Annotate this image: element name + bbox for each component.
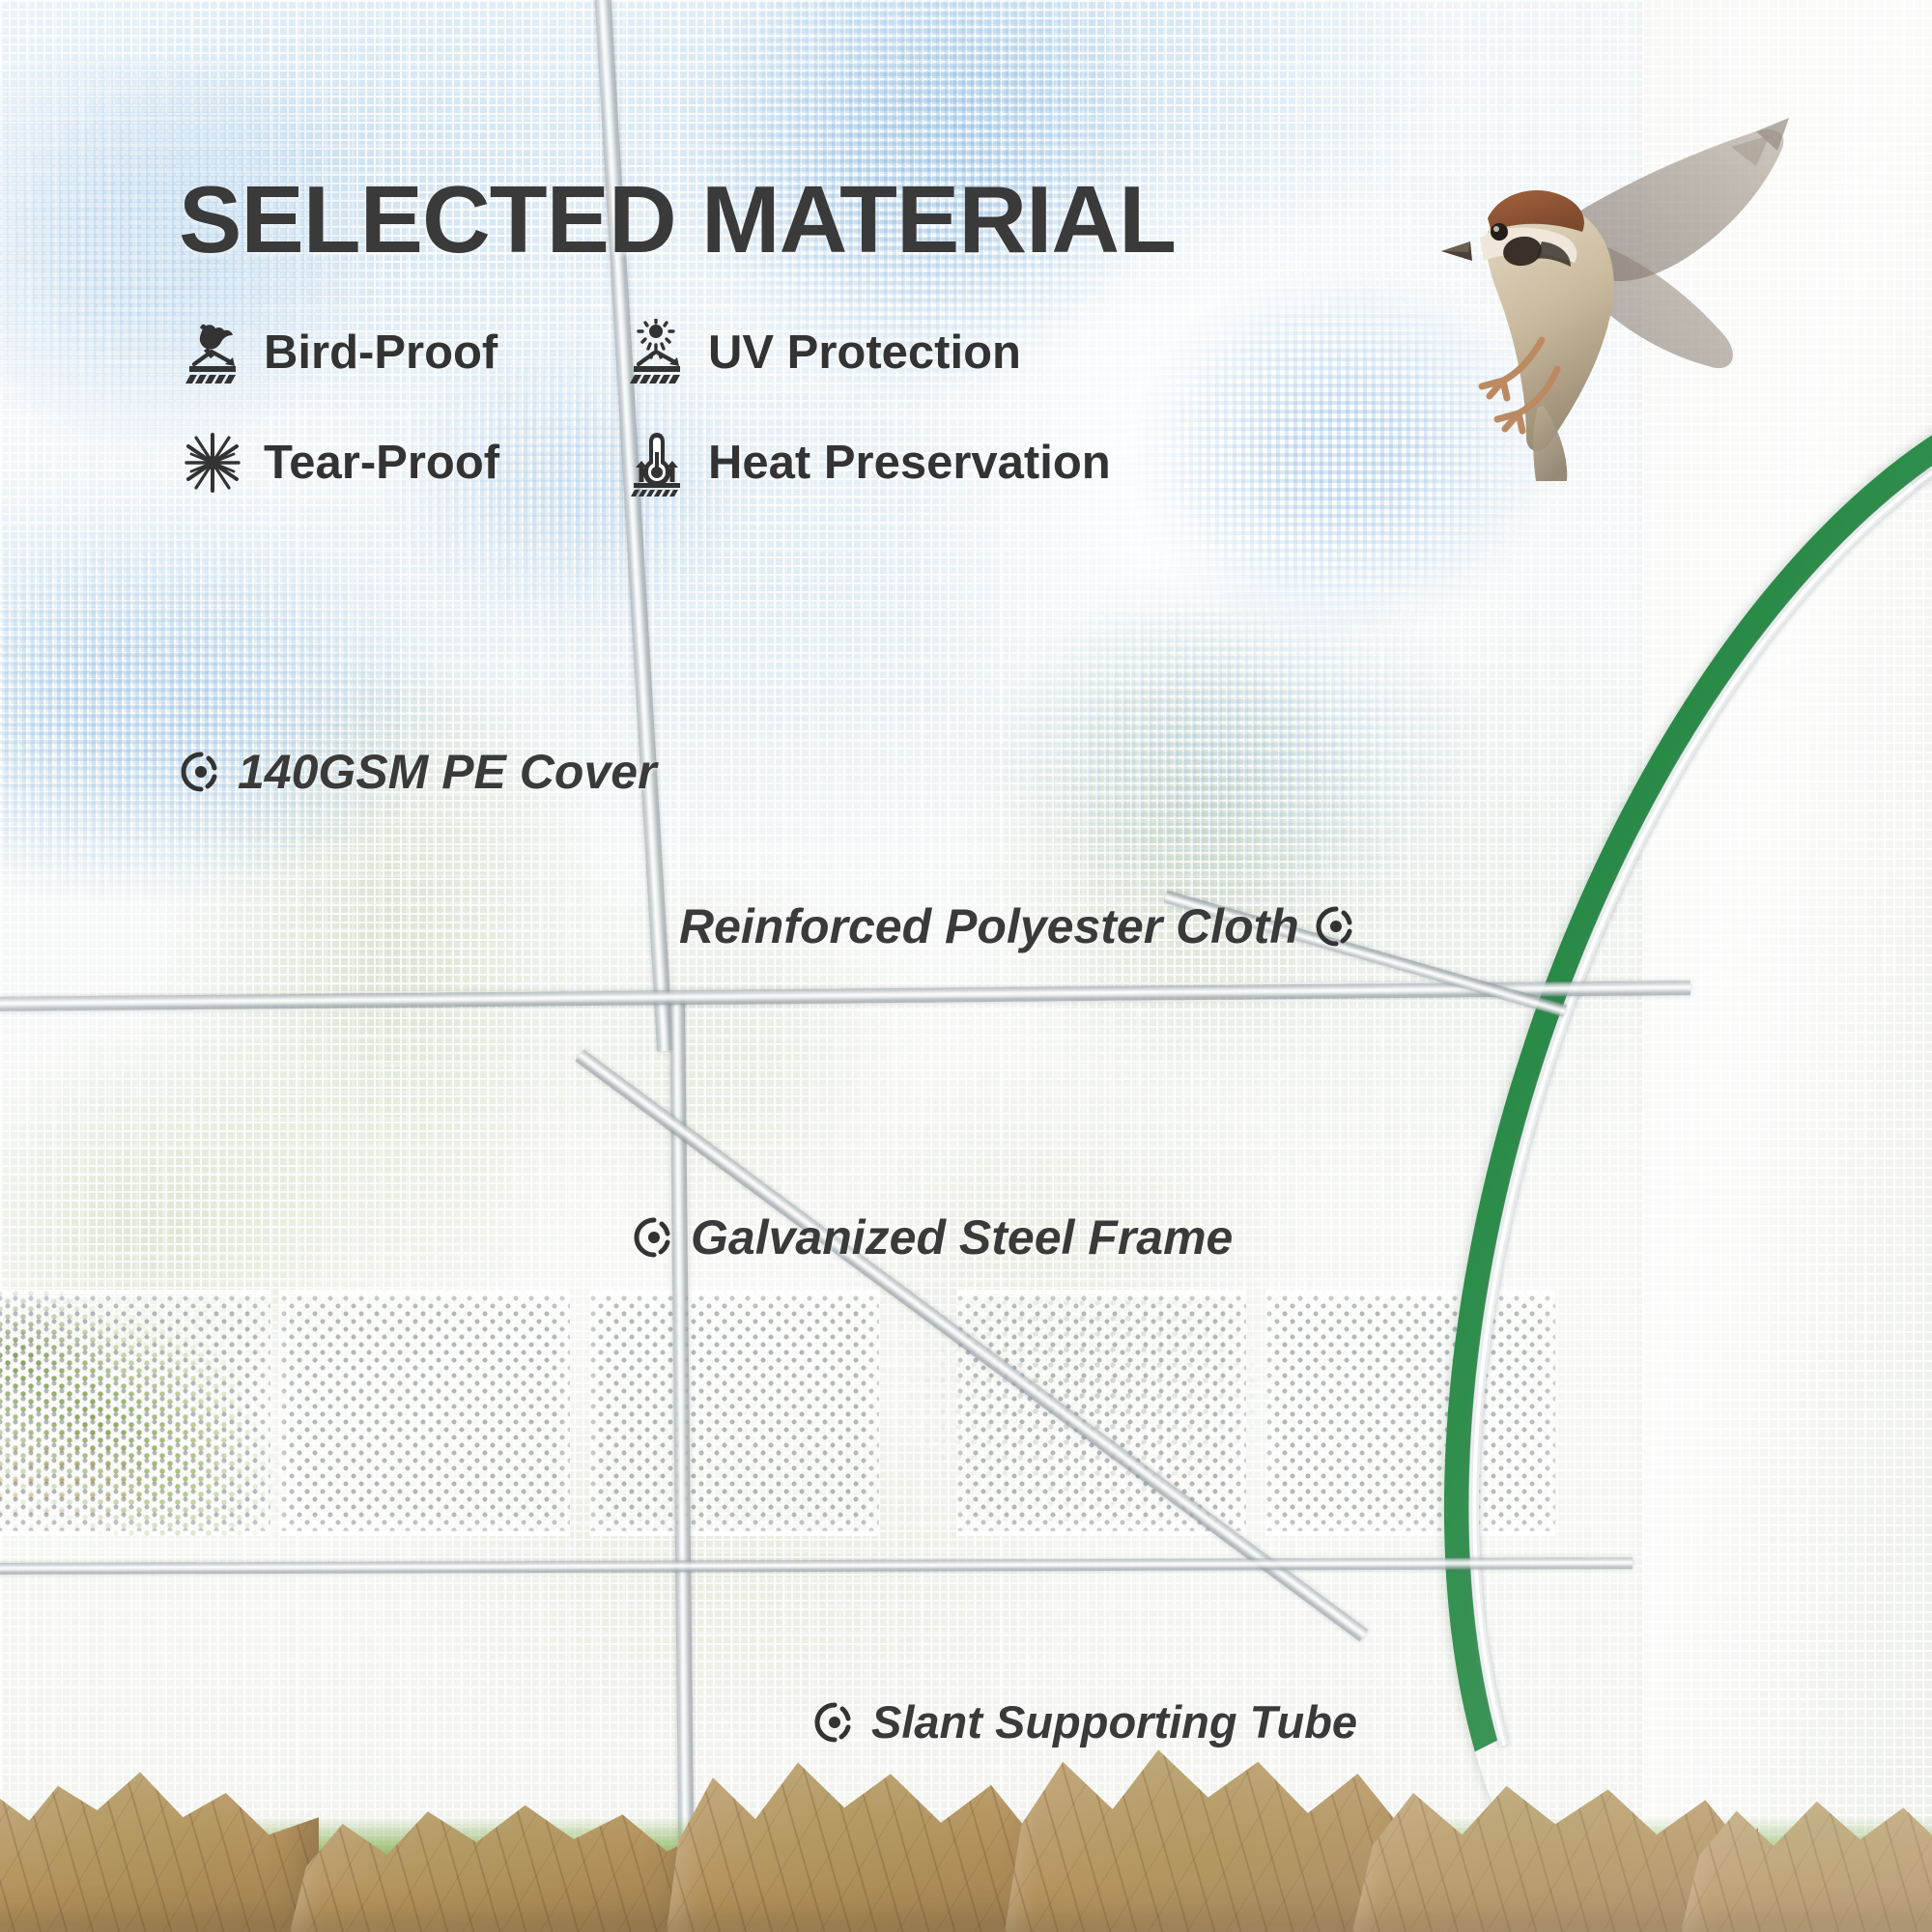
tear-proof-icon xyxy=(179,429,246,497)
feature-item-heat-preservation: Heat Preservation xyxy=(623,429,1111,497)
callout-galvanized-steel-frame: Galvanized Steel Frame xyxy=(633,1209,1233,1265)
sky-dither-patch xyxy=(966,541,1507,947)
sparrow-illustration xyxy=(1352,97,1797,483)
callout-140gsm-pe-cover: 140GSM PE Cover xyxy=(180,744,657,800)
soil-mound xyxy=(0,1758,319,1932)
page-title: SELECTED MATERIAL xyxy=(179,172,1176,267)
uv-protection-icon xyxy=(623,319,691,386)
callout-label: Slant Supporting Tube xyxy=(871,1695,1357,1748)
target-bullet-icon xyxy=(813,1701,856,1744)
target-bullet-icon xyxy=(633,1216,675,1259)
callout-label: 140GSM PE Cover xyxy=(238,744,657,800)
vent-foliage-showthrough xyxy=(0,1415,184,1541)
feature-item-uv-protection: UV Protection xyxy=(623,319,1111,386)
feature-label: UV Protection xyxy=(708,326,1021,380)
feature-label: Tear-Proof xyxy=(264,436,499,490)
callout-label: Galvanized Steel Frame xyxy=(691,1209,1233,1265)
soil-mound xyxy=(1005,1734,1420,1932)
heat-preservation-icon xyxy=(623,429,691,497)
mesh-vent-band xyxy=(0,1290,1652,1579)
callout-reinforced-polyester-cloth: Reinforced Polyester Cloth xyxy=(679,898,1357,954)
product-feature-image: SELECTED MATERIAL xyxy=(0,0,1932,1932)
feature-item-bird-proof: Bird-Proof xyxy=(179,319,594,386)
soil-mound xyxy=(1681,1773,1932,1932)
mesh-vent-panel xyxy=(589,1290,879,1536)
feature-item-tear-proof: Tear-Proof xyxy=(179,429,594,497)
callout-label: Reinforced Polyester Cloth xyxy=(679,898,1299,954)
bird-proof-icon xyxy=(179,319,246,386)
feature-list: Bird-Proof xyxy=(179,319,1111,497)
mesh-vent-panel xyxy=(280,1290,570,1536)
callout-slant-supporting-tube: Slant Supporting Tube xyxy=(813,1695,1357,1748)
target-bullet-icon xyxy=(1315,905,1357,948)
soil-mound xyxy=(290,1777,696,1932)
soil-mound xyxy=(667,1744,1053,1932)
feature-label: Bird-Proof xyxy=(264,326,497,380)
feature-label: Heat Preservation xyxy=(708,436,1111,490)
target-bullet-icon xyxy=(180,751,222,793)
